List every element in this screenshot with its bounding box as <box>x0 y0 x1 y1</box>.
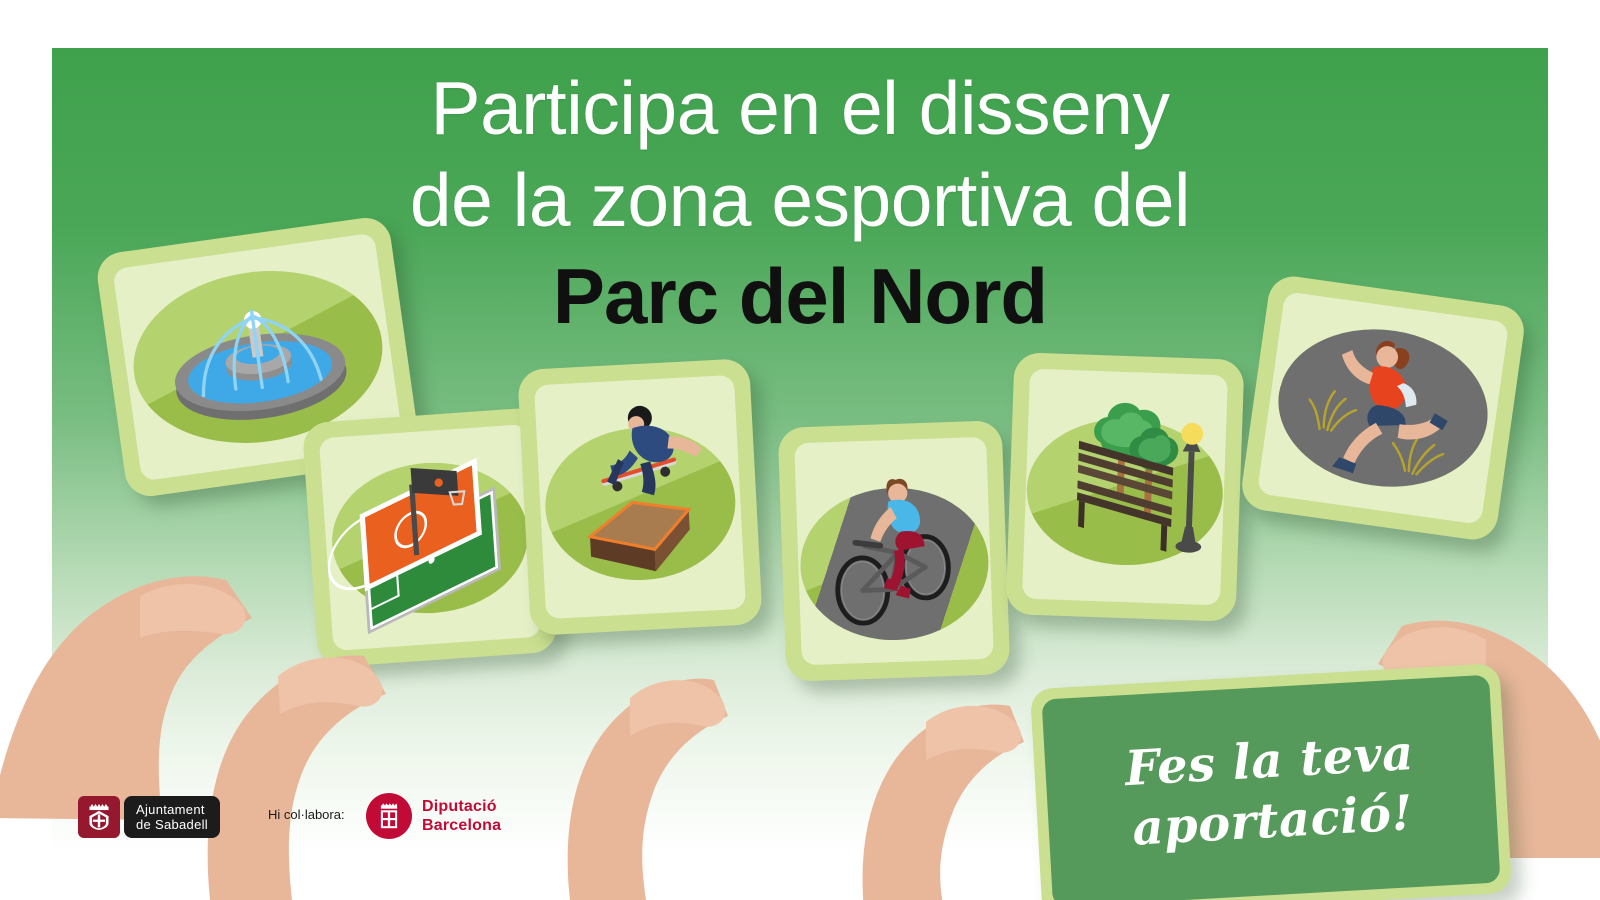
diputacio-barcelona-logo[interactable]: Diputació Barcelona <box>366 793 501 839</box>
ajuntament-label: Ajuntament de Sabadell <box>124 796 220 838</box>
ajuntament-line-1: Ajuntament <box>136 802 208 817</box>
ajuntament-sabadell-logo[interactable]: Ajuntament de Sabadell <box>78 796 220 838</box>
collaborate-label: Hi col·labora: <box>268 807 345 822</box>
footer-logos: Ajuntament de Sabadell Hi col·labora: Di… <box>0 780 1600 860</box>
diputacio-line-1: Diputació <box>422 798 497 815</box>
diputacio-label: Diputació Barcelona <box>422 797 501 835</box>
diputacio-crest-icon <box>366 793 412 839</box>
sabadell-shield-icon <box>78 796 120 838</box>
poster-canvas: Participa en el disseny de la zona espor… <box>0 0 1600 900</box>
ajuntament-line-2: de Sabadell <box>136 817 208 832</box>
diputacio-line-2: Barcelona <box>422 817 501 834</box>
